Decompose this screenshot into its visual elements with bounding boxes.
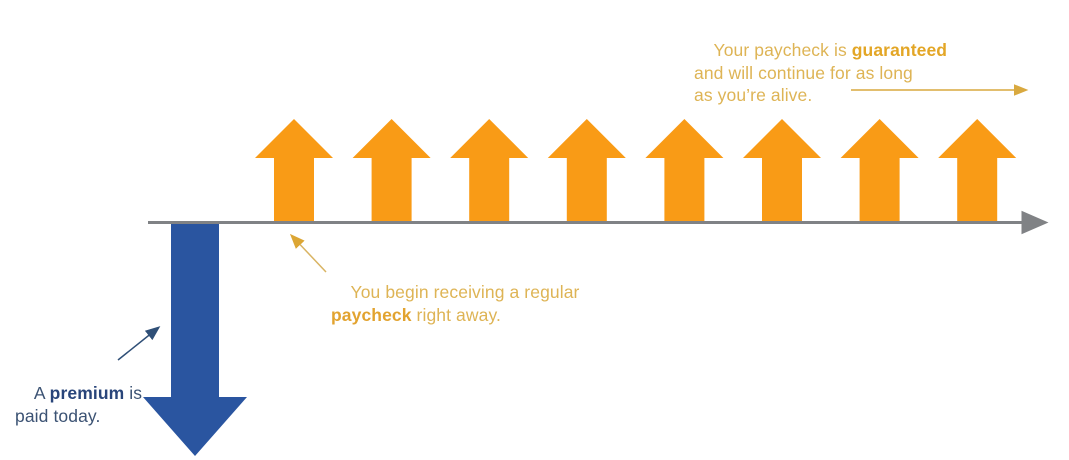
paycheck-line1: You begin receiving a regular: [351, 282, 580, 302]
inflow-arrow-2: [353, 119, 431, 223]
guarantee-line1-emphasis: guaranteed: [852, 40, 947, 60]
guarantee-line1-pre: Your paycheck is: [714, 40, 852, 60]
guarantee-line2: and will continue for as long: [694, 62, 947, 85]
diagram-canvas: Your paycheck is guaranteedand will cont…: [0, 0, 1069, 460]
premium-pointer-arrow: [118, 328, 158, 360]
premium-line1-post: is: [124, 383, 142, 403]
annotation-paycheck: You begin receiving a regularpaycheck ri…: [331, 258, 580, 372]
premium-line2: paid today.: [15, 405, 142, 428]
inflow-arrow-8: [938, 119, 1016, 223]
guarantee-line3: as you’re alive.: [694, 84, 947, 107]
inflow-arrow-4: [548, 119, 626, 223]
inflow-arrow-1: [255, 119, 333, 223]
paycheck-pointer-arrow: [292, 236, 326, 272]
outflow-premium-arrow: [143, 224, 247, 456]
paycheck-line2-post: right away.: [412, 305, 501, 325]
premium-line1-pre: A: [34, 383, 50, 403]
annotation-guarantee: Your paycheck is guaranteedand will cont…: [694, 16, 947, 153]
annotation-premium: A premium ispaid today.: [15, 359, 142, 460]
premium-line1-emphasis: premium: [50, 383, 125, 403]
paycheck-line2-emphasis: paycheck: [331, 305, 412, 325]
inflow-arrow-3: [450, 119, 528, 223]
